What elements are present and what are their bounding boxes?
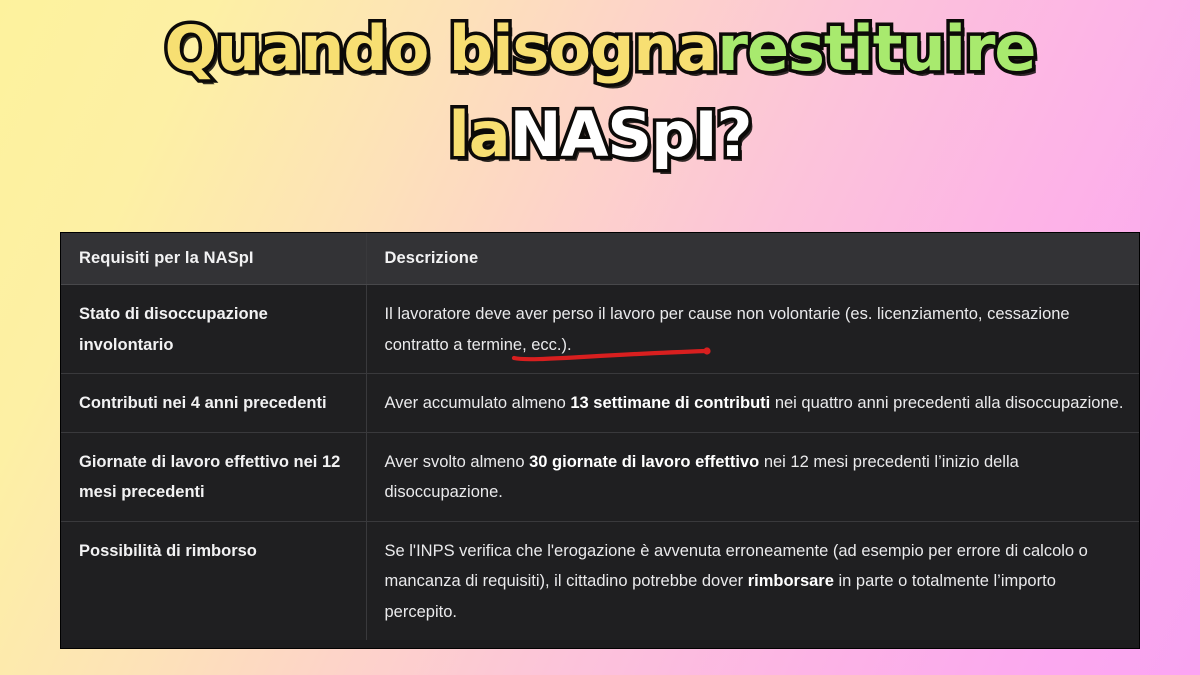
cell-requisito: Possibilità di rimborso [61, 521, 366, 640]
cell-descrizione: Aver svolto almeno 30 giornate di lavoro… [366, 432, 1140, 521]
emphasis-text: rimborsare [748, 572, 834, 590]
cell-descrizione: Aver accumulato almeno 13 settimane di c… [366, 374, 1140, 433]
table-row: Giornate di lavoro effettivo nei 12 mesi… [61, 432, 1140, 521]
emphasis-text: 13 settimane di contributi [570, 394, 770, 412]
cell-requisito: Contributi nei 4 anni precedenti [61, 374, 366, 433]
cell-descrizione: Il lavoratore deve aver perso il lavoro … [366, 285, 1140, 374]
table-row: Possibilità di rimborsoSe l'INPS verific… [61, 521, 1140, 640]
title-text-la: la [448, 104, 509, 166]
cell-requisito: Stato di disoccupazione involontario [61, 285, 366, 374]
cell-descrizione: Se l'INPS verifica che l'erogazione è av… [366, 521, 1140, 640]
table-header: Requisiti per la NASpI Descrizione [61, 233, 1140, 285]
column-header-requisiti: Requisiti per la NASpI [61, 233, 366, 285]
title-text-quando-bisogna: Quando bisogna [165, 18, 718, 80]
emphasis-text: 30 giornate di lavoro effettivo [529, 453, 759, 471]
table-body: Stato di disoccupazione involontarioIl l… [61, 285, 1140, 641]
table-row: Stato di disoccupazione involontarioIl l… [61, 285, 1140, 374]
page-title: Quando bisogna restituire la NASpI? [0, 14, 1200, 170]
body-text: Il lavoratore deve aver perso il lavoro … [385, 305, 1070, 354]
title-line-1: Quando bisogna restituire [0, 14, 1200, 84]
column-header-descrizione: Descrizione [366, 233, 1140, 285]
requirements-table-container: Requisiti per la NASpI Descrizione Stato… [60, 232, 1140, 649]
table-header-row: Requisiti per la NASpI Descrizione [61, 233, 1140, 285]
body-text: Aver svolto almeno [385, 453, 530, 471]
body-text: nei quattro anni precedenti alla disoccu… [770, 394, 1123, 412]
title-text-restituire: restituire [717, 18, 1035, 80]
requirements-table: Requisiti per la NASpI Descrizione Stato… [61, 233, 1140, 640]
table-row: Contributi nei 4 anni precedentiAver acc… [61, 374, 1140, 433]
title-line-2: la NASpI? [0, 100, 1200, 170]
body-text: Aver accumulato almeno [385, 394, 571, 412]
cell-requisito: Giornate di lavoro effettivo nei 12 mesi… [61, 432, 366, 521]
title-text-naspi: NASpI? [510, 104, 752, 166]
